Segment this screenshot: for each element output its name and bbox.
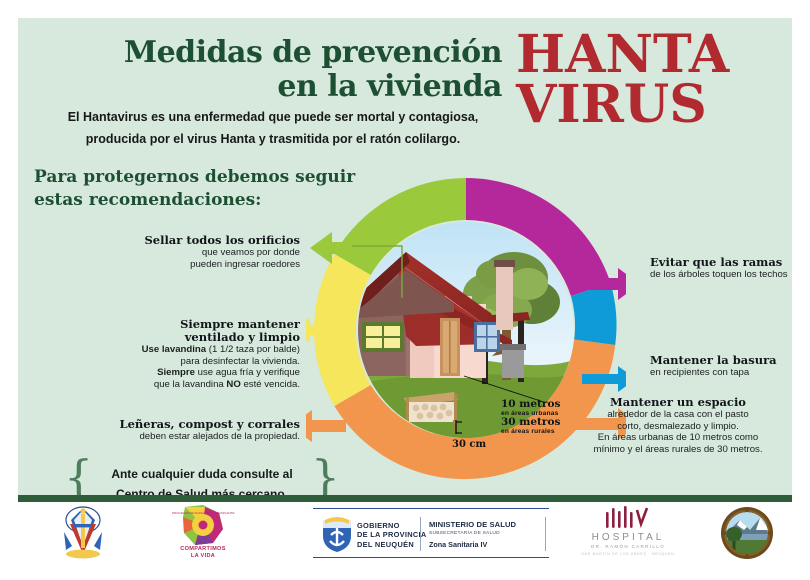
footer-divider-band bbox=[18, 495, 792, 502]
page-title-line1: Medidas de prevención bbox=[32, 36, 502, 70]
hospital-subtitle-secondary: SAN MARTÍN DE LOS ANDES · NEUQUÉN bbox=[563, 552, 693, 556]
gobierno-ministerio-frame: GOBIERNO DE LA PROVINCIA DEL NEUQUÉN MIN… bbox=[313, 508, 549, 558]
ministerio-subtitle: SUBSECRETARÍA DE SALUD bbox=[429, 531, 500, 536]
neuquen-shield-icon bbox=[323, 517, 351, 552]
lead-line-2: producida por el virus Hanta y trasmitid… bbox=[38, 128, 508, 150]
callout-espacio-line4: mínimo y el áreas rurales de 30 metros. bbox=[538, 444, 792, 456]
callout-espacio-line3: En áreas urbanas de 10 metros como bbox=[538, 432, 792, 444]
callout-sellar-line1: que veamos por donde bbox=[38, 247, 300, 259]
disease-title-line1: HANTA bbox=[516, 30, 792, 80]
poster-root: Medidas de prevención en la vivienda HAN… bbox=[0, 0, 810, 580]
callout-ventilado-limpio: Siempre mantener ventilado y limpio Use … bbox=[38, 318, 300, 390]
gobierno-ministerio-logo: GOBIERNO DE LA PROVINCIA DEL NEUQUÉN MIN… bbox=[313, 502, 553, 564]
callout-leneras-title: Leñeras, compost y corrales bbox=[38, 418, 300, 431]
callout-ventilado-line3: Siempre use agua fría y verifique bbox=[38, 367, 300, 379]
label-30-cm: 30 cm bbox=[452, 439, 486, 450]
callout-ventilado-line2: para desinfectar la vivienda. bbox=[38, 356, 300, 368]
callout-ramas-title: Evitar que las ramas bbox=[650, 256, 792, 269]
callout-mantener-espacio: Mantener un espacio alrededor de la casa… bbox=[538, 396, 792, 455]
callout-mantener-basura: Mantener la basura en recipientes con ta… bbox=[650, 354, 792, 379]
disease-title: HANTA VIRUS bbox=[516, 30, 792, 130]
disease-title-line2: VIRUS bbox=[516, 80, 792, 130]
arrow-orange-left bbox=[306, 410, 346, 442]
hospital-mark-icon bbox=[606, 506, 647, 528]
brace-right-icon: } bbox=[311, 454, 340, 498]
compartimos-caption-line1: COMPARTIMOS bbox=[158, 546, 248, 553]
page-title: Medidas de prevención en la vivienda bbox=[32, 36, 502, 104]
svg-text:PROGRAMA DE DONACIÓN Y TRASPLA: PROGRAMA DE DONACIÓN Y TRASPLANTE bbox=[172, 510, 235, 515]
consult-note-line1: Ante cualquier duda consulte al bbox=[88, 464, 316, 484]
callout-ramas-line1: de los árboles toquen los techos bbox=[650, 269, 792, 281]
lead-paragraph: El Hantavirus es una enfermedad que pued… bbox=[38, 106, 508, 150]
page-title-line2: en la vivienda bbox=[32, 70, 502, 104]
callout-espacio-line1: alrededor de la casa con el pasto bbox=[538, 409, 792, 421]
callout-ventilado-title-line2: ventilado y limpio bbox=[38, 331, 300, 344]
provincia-crest-logo bbox=[48, 502, 118, 564]
crest-icon bbox=[64, 507, 102, 558]
callout-leneras-line1: deben estar alejados de la propiedad. bbox=[38, 431, 300, 443]
callout-basura-line1: en recipientes con tapa bbox=[650, 367, 792, 379]
callout-sellar-title: Sellar todos los orificios bbox=[38, 234, 300, 247]
poster-canvas: Medidas de prevención en la vivienda HAN… bbox=[18, 18, 792, 498]
compartimos-ring-text: PROGRAMA DE DONACIÓN Y TRASPLANTE bbox=[172, 510, 235, 515]
callout-sellar-orificios: Sellar todos los orificios que veamos po… bbox=[38, 234, 300, 270]
municipio-seal-logo bbox=[708, 502, 788, 564]
callout-ventilado-line1: Use lavandina (1 1/2 taza por balde) bbox=[38, 344, 300, 356]
callout-espacio-line2: corto, desmalezado y limpio. bbox=[538, 421, 792, 433]
mountain-seal-icon bbox=[721, 507, 773, 559]
compartimos-caption: COMPARTIMOS LA VIDA bbox=[158, 546, 248, 560]
hospital-subtitle: DR. RAMÓN CARRILLO bbox=[563, 544, 693, 549]
gobierno-name: GOBIERNO DE LA PROVINCIA DEL NEUQUÉN bbox=[357, 521, 427, 549]
gobierno-line2: DE LA PROVINCIA bbox=[357, 530, 427, 539]
lead-line-1: El Hantavirus es una enfermedad que pued… bbox=[38, 106, 508, 128]
callout-evitar-ramas: Evitar que las ramas de los árboles toqu… bbox=[650, 256, 792, 281]
callout-basura-title: Mantener la basura bbox=[650, 354, 792, 367]
callout-ventilado-line4: que la lavandina NO esté vencida. bbox=[38, 379, 300, 391]
logo-separator-2 bbox=[545, 517, 546, 551]
compartimos-caption-line2: LA VIDA bbox=[158, 553, 248, 560]
gobierno-line1: GOBIERNO bbox=[357, 521, 427, 530]
hospital-wordmark: HOSPITAL bbox=[563, 532, 693, 543]
consult-note: { Ante cualquier duda consulte al Centro… bbox=[62, 462, 342, 498]
hospital-ramon-carrillo-logo: HOSPITAL DR. RAMÓN CARRILLO SAN MARTÍN D… bbox=[563, 502, 693, 564]
gobierno-line3: DEL NEUQUÉN bbox=[357, 540, 427, 549]
footer-logos: PROGRAMA DE DONACIÓN Y TRASPLANTE COMPAR… bbox=[18, 502, 792, 564]
callout-sellar-line2: pueden ingresar roedores bbox=[38, 259, 300, 271]
callout-espacio-title: Mantener un espacio bbox=[538, 396, 792, 409]
callout-leneras-compost: Leñeras, compost y corrales deben estar … bbox=[38, 418, 300, 443]
compartimos-la-vida-logo: PROGRAMA DE DONACIÓN Y TRASPLANTE COMPAR… bbox=[158, 502, 248, 564]
consult-note-text: Ante cualquier duda consulte al Centro d… bbox=[88, 464, 316, 498]
ministerio-name: MINISTERIO DE SALUD bbox=[429, 520, 516, 530]
zona-sanitaria: Zona Sanitaria IV bbox=[429, 540, 487, 549]
